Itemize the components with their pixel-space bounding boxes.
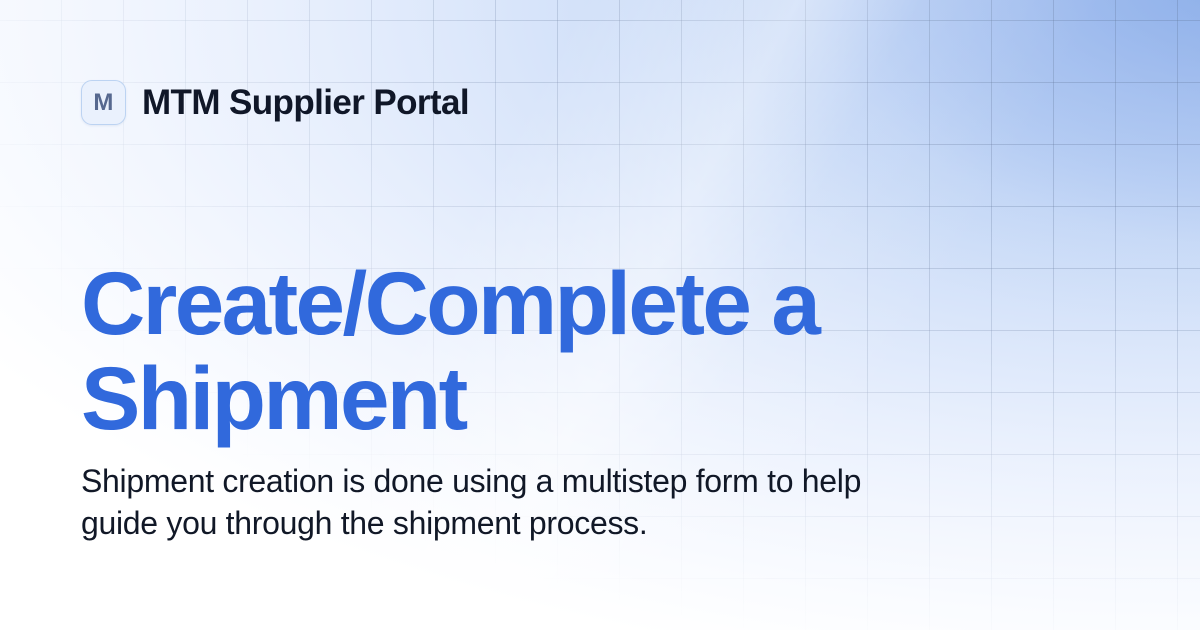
brand-name: MTM Supplier Portal (142, 85, 469, 120)
page-subtitle: Shipment creation is done using a multis… (81, 460, 871, 544)
brand-badge-letter: M (93, 91, 113, 115)
hero-content: M MTM Supplier Portal Create/Complete a … (0, 0, 1200, 630)
page-title: Create/Complete a Shipment (81, 256, 981, 446)
brand-badge-icon: M (81, 80, 126, 125)
hero-banner: M MTM Supplier Portal Create/Complete a … (0, 0, 1200, 630)
brand-lockup: M MTM Supplier Portal (81, 80, 469, 125)
